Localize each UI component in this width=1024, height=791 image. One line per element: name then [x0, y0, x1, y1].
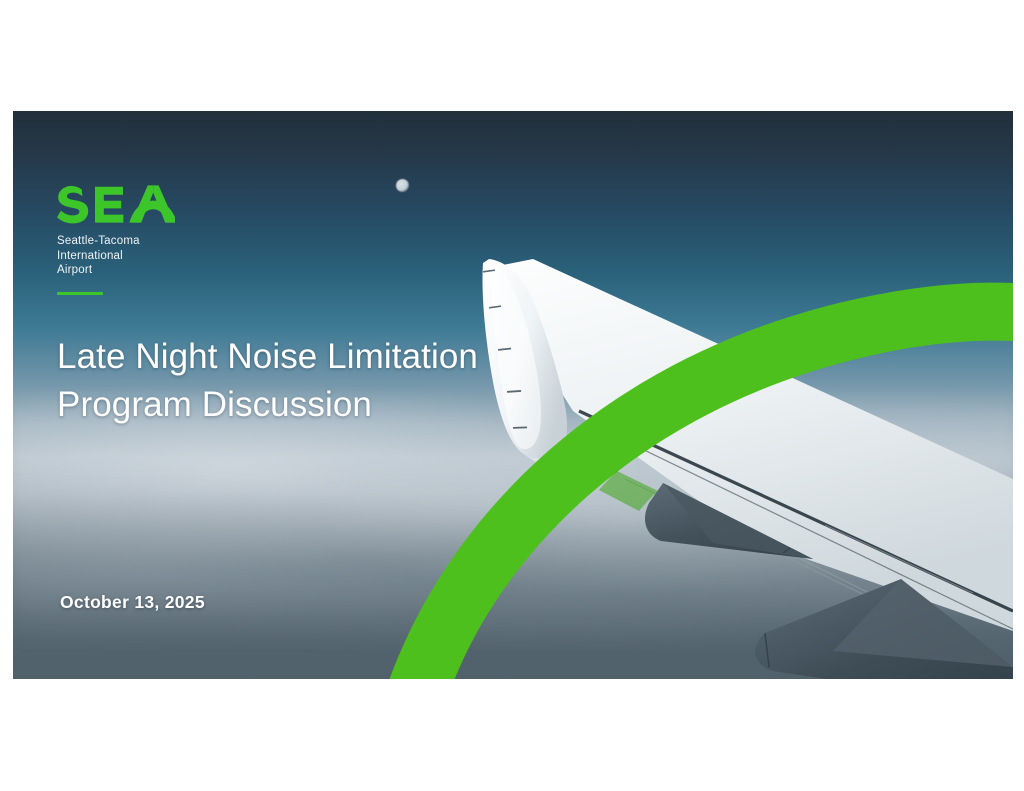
slide-title: Late Night Noise Limitation Program Disc…	[57, 333, 617, 429]
title-slide: Seattle-Tacoma International Airport Lat…	[13, 111, 1013, 679]
sea-logo: Seattle-Tacoma International Airport	[57, 183, 287, 295]
logo-subtitle-line-3: Airport	[57, 264, 92, 276]
logo-subtitle-line-1: Seattle-Tacoma	[57, 235, 140, 247]
logo-subtitle-line-2: International	[57, 250, 123, 262]
sea-wordmark-icon	[57, 183, 175, 227]
presentation-page: Seattle-Tacoma International Airport Lat…	[0, 0, 1024, 791]
slide-title-line-2: Program Discussion	[57, 381, 617, 429]
slide-title-line-1: Late Night Noise Limitation	[57, 333, 617, 381]
logo-accent-rule	[57, 292, 103, 295]
slide-date: October 13, 2025	[60, 592, 205, 613]
sea-logo-subtitle: Seattle-Tacoma International Airport	[57, 234, 287, 278]
